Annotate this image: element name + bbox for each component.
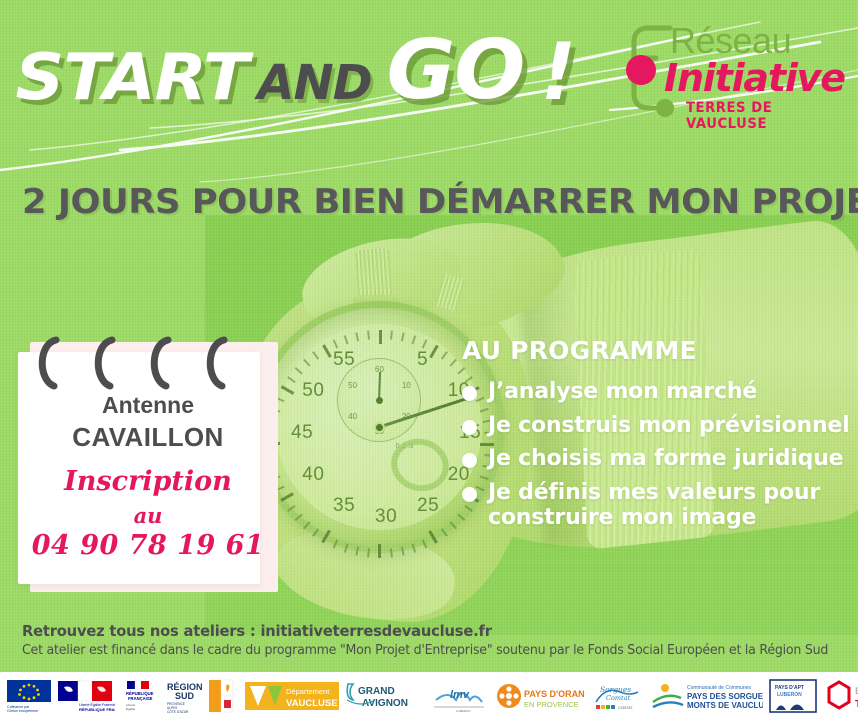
stopwatch-tick xyxy=(429,345,439,359)
partner-logo-pays-d-orange: PAYS D'ORANGE EN PROVENCE xyxy=(493,678,585,714)
svg-text:LUBERON: LUBERON xyxy=(456,709,471,713)
stopwatch-tick xyxy=(312,528,319,536)
stopwatch-subdial-number: 50 xyxy=(348,381,357,390)
stopwatch-tick xyxy=(441,351,448,359)
svg-text:Égalité: Égalité xyxy=(126,706,136,711)
partner-logo-departement-vaucluse: Département VAUCLUSE xyxy=(244,678,340,714)
stopwatch-number: 50 xyxy=(302,380,324,402)
headline-word-and: AND xyxy=(257,62,371,108)
programme-item-label: Je choisis ma forme juridique xyxy=(488,446,843,472)
svg-text:PAYS D'APT: PAYS D'APT xyxy=(775,685,804,691)
brand-green-dot xyxy=(656,99,674,117)
bullet-icon xyxy=(462,420,477,435)
svg-text:PAYS DES SORGUES: PAYS DES SORGUES xyxy=(687,692,763,701)
svg-text:Sorgues: Sorgues xyxy=(600,685,631,694)
stopwatch-tick xyxy=(367,331,370,340)
brand-pink-dot xyxy=(626,55,656,85)
programme-item: Je définis mes valeurs pour construire m… xyxy=(462,480,852,531)
brand-terres-de-vaucluse-text: TERRES DE VAUCLUSE xyxy=(686,100,831,132)
partner-logo-strip: Cofinancé par l'Union européenne Liberté… xyxy=(0,672,858,720)
svg-text:RÉPUBLIQUE FRANÇAISE: RÉPUBLIQUE FRANÇAISE xyxy=(79,707,115,712)
stopwatch-subdial-number: 10 xyxy=(402,381,411,390)
stopwatch-tick xyxy=(344,335,349,344)
headline: START AND GO ! xyxy=(22,34,575,108)
stopwatch-tick xyxy=(333,339,338,348)
footer-website-line[interactable]: Retrouvez tous nos ateliers : initiative… xyxy=(22,622,831,640)
footer-text-block: Retrouvez tous nos ateliers : initiative… xyxy=(22,622,848,658)
svg-text:Comtat: Comtat xyxy=(606,694,631,702)
stopwatch-tick xyxy=(333,540,338,549)
stopwatch-tick xyxy=(321,530,331,544)
bullet-icon xyxy=(462,487,477,502)
programme-item: J’analyse mon marché xyxy=(462,379,852,405)
stopwatch-tick xyxy=(450,359,458,367)
programme-section: AU PROGRAMME J’analyse mon marchéJe cons… xyxy=(462,336,852,539)
stopwatch-tick xyxy=(411,335,416,344)
stopwatch-tick xyxy=(390,548,393,557)
svg-text:AVIGNON: AVIGNON xyxy=(362,698,408,709)
headline-word-go: GO xyxy=(386,34,524,108)
programme-item-label: Je définis mes valeurs pour construire m… xyxy=(488,480,852,531)
note-au-label: au xyxy=(14,503,282,528)
stopwatch-tick xyxy=(441,528,448,536)
stopwatch-tick xyxy=(422,339,427,348)
svg-text:CÔTE D'AZUR: CÔTE D'AZUR xyxy=(167,709,189,714)
stopwatch-tick xyxy=(401,332,405,341)
svg-text:LUBERON: LUBERON xyxy=(777,692,802,698)
brand-initiative-text: Initiative xyxy=(664,56,845,100)
stopwatch-tick xyxy=(428,530,438,544)
partner-logo-republique-francaise: Liberté·Égalité·Fraternité RÉPUBLIQUE FR… xyxy=(57,678,115,714)
programme-item: Je choisis ma forme juridique xyxy=(462,446,852,472)
stopwatch-tick xyxy=(312,351,319,359)
svg-text:l'Union européenne: l'Union européenne xyxy=(7,709,38,713)
stopwatch-center-pin xyxy=(374,422,385,433)
footer-funding-line: Cet atelier est financé dans le cadre du… xyxy=(22,643,823,658)
stopwatch-tick xyxy=(303,359,311,367)
note-inscription-label: Inscription xyxy=(14,466,282,497)
svg-text:EN PROVENCE: EN PROVENCE xyxy=(524,700,579,709)
stopwatch-subdial-pin xyxy=(376,397,383,404)
stopwatch-tick xyxy=(422,540,427,549)
note-antenne-label: Antenne xyxy=(14,392,282,419)
stopwatch-tick xyxy=(378,544,381,558)
stopwatch-number: 35 xyxy=(333,495,355,517)
programme-item-label: J’analyse mon marché xyxy=(488,379,757,405)
note-city-label: CAVAILLON xyxy=(14,422,282,453)
svg-text:VAUCLUSE: VAUCLUSE xyxy=(286,698,338,709)
note-card-group: Antenne CAVAILLON Inscription au 04 90 7… xyxy=(14,330,282,592)
stopwatch-subdial-number: 40 xyxy=(348,412,357,421)
stopwatch-tick xyxy=(281,385,295,395)
programme-title: AU PROGRAMME xyxy=(462,336,852,365)
poster-background: 510152025303540455055 601020304050 0,2 S xyxy=(0,0,858,672)
stopwatch-tick xyxy=(295,514,303,522)
programme-item-label: Je construis mon prévisionnel xyxy=(488,413,850,439)
svg-text:SUD: SUD xyxy=(175,691,195,701)
partner-logo-region-sud: RÉGION SUD PROVENCE ALPES CÔTE D'AZUR xyxy=(165,678,239,714)
stopwatch-tick xyxy=(287,505,295,512)
stopwatch-number: 40 xyxy=(302,464,324,486)
partner-logo-lmv: lmv LUBERON xyxy=(432,678,488,714)
svg-text:Département: Département xyxy=(286,687,330,696)
stopwatch-tick xyxy=(295,367,303,375)
bullet-icon xyxy=(462,453,477,468)
spiral-rings-icon xyxy=(32,330,252,392)
programme-list: J’analyse mon marchéJe construis mon pré… xyxy=(462,379,852,531)
partner-logo-pays-des-sorgues: Communauté de Communes PAYS DES SORGUES … xyxy=(651,678,763,714)
stopwatch-tick xyxy=(303,521,311,529)
headline-exclamation: ! xyxy=(539,38,576,108)
stopwatch-number: 45 xyxy=(291,422,313,444)
brand-logo: Réseau Initiative TERRES DE VAUCLUSE xyxy=(618,18,840,122)
partner-logo-grand-avignon: GRAND AVIGNON xyxy=(345,678,427,714)
stopwatch-face: 510152025303540455055 601020304050 0,2 S xyxy=(276,324,482,530)
svg-text:GRAND: GRAND xyxy=(358,686,395,697)
stopwatch-tick xyxy=(322,344,332,358)
bullet-icon xyxy=(462,386,477,401)
svg-text:FRANÇAISE: FRANÇAISE xyxy=(128,696,153,701)
partner-logo-banque-des-territoires: BANQUE des TERRITOIRES xyxy=(823,678,858,714)
stopwatch-tick xyxy=(287,376,295,383)
partner-logo-prefet-vaucluse: RÉPUBLIQUE FRANÇAISE Liberté Égalité xyxy=(120,678,160,714)
programme-item: Je construis mon prévisionnel xyxy=(462,413,852,439)
stopwatch-tick xyxy=(450,521,458,529)
poster-subtitle: 2 JOURS POUR BIEN DÉMARRER MON PROJET xyxy=(22,182,858,222)
poster-root: 510152025303540455055 601020304050 0,2 S xyxy=(0,0,858,720)
svg-text:COMTAT: COMTAT xyxy=(618,706,633,710)
stopwatch-tick xyxy=(355,332,359,341)
stopwatch-number: 5 xyxy=(417,349,428,371)
svg-text:lmv: lmv xyxy=(450,689,470,701)
headline-word-start: START xyxy=(15,50,248,108)
note-phone-number[interactable]: 04 90 78 19 61 xyxy=(14,530,282,561)
stopwatch-tick xyxy=(390,331,393,340)
svg-text:PAYS D'ORANGE: PAYS D'ORANGE xyxy=(524,689,585,699)
stopwatch-tick xyxy=(411,544,416,553)
stopwatch-tick xyxy=(379,330,382,344)
partner-logo-pays-d-apt-luberon: PAYS D'APT LUBERON xyxy=(768,678,818,714)
svg-text:Communauté de Communes: Communauté de Communes xyxy=(687,685,751,691)
stopwatch-number: 30 xyxy=(375,506,397,528)
partner-logo-sorgues-du-comtat: Sorgues Comtat COMTAT xyxy=(590,678,646,714)
partner-logo-union-europeenne: Cofinancé par l'Union européenne xyxy=(6,678,52,714)
stopwatch-number: 25 xyxy=(417,495,439,517)
stopwatch-tick xyxy=(280,492,294,502)
svg-text:MONTS DE VAUCLUSE: MONTS DE VAUCLUSE xyxy=(687,701,763,710)
stopwatch-tick xyxy=(344,544,349,553)
